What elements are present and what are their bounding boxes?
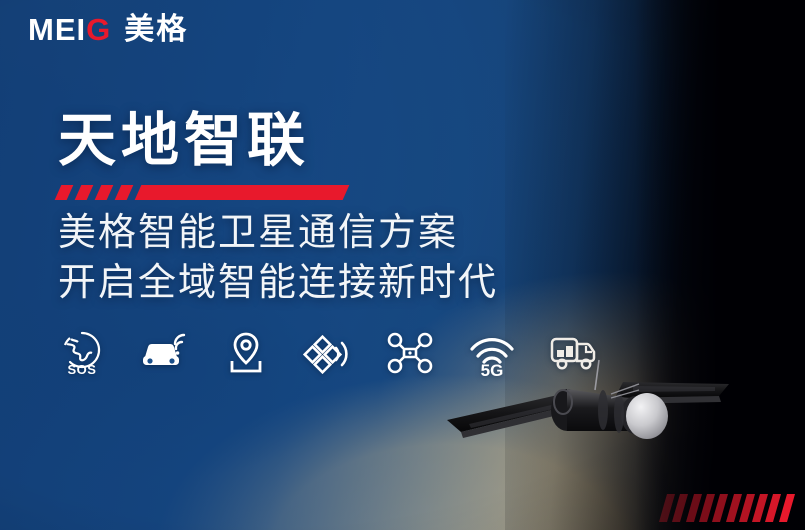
- svg-text:5G: 5G: [480, 361, 503, 378]
- satellite-signal-icon[interactable]: [300, 326, 355, 380]
- subtitle-block: 美格智能卫星通信方案 开启全域智能连接新时代: [58, 207, 498, 307]
- drone-icon[interactable]: [382, 326, 437, 380]
- logo-chinese-text: 美格: [124, 15, 188, 45]
- 5g-signal-icon[interactable]: 5G: [464, 326, 519, 380]
- red-slash-divider: [58, 185, 348, 201]
- satellite-communication-banner: MEIG 美格 天地智联 美格智能卫星通信方案 开启全域智能连接新时代 SOS: [0, 0, 805, 530]
- logo-latin-accent: G: [86, 12, 111, 47]
- brand-logo[interactable]: MEIG 美格: [28, 14, 188, 45]
- subtitle-line-2: 开启全域智能连接新时代: [58, 257, 498, 307]
- headline-block: 天地智联: [58, 110, 348, 201]
- logo-latin-text: MEIG: [28, 14, 111, 45]
- subtitle-line-1: 美格智能卫星通信方案: [58, 207, 498, 257]
- svg-text:SOS: SOS: [67, 362, 96, 377]
- logo-latin-prefix: MEI: [28, 12, 86, 47]
- connected-car-icon[interactable]: [136, 326, 191, 380]
- page-title: 天地智联: [58, 110, 348, 171]
- divider-slash-2: [75, 185, 94, 200]
- sos-globe-icon[interactable]: SOS: [54, 326, 109, 380]
- delivery-truck-icon[interactable]: [546, 326, 601, 380]
- divider-slash-4: [115, 185, 134, 200]
- divider-bar: [135, 185, 350, 200]
- location-pin-icon[interactable]: [218, 326, 273, 380]
- divider-slash-3: [95, 185, 114, 200]
- red-stripe-accent: [663, 492, 791, 522]
- feature-icon-row: SOS: [54, 326, 601, 380]
- divider-slash-1: [55, 185, 74, 200]
